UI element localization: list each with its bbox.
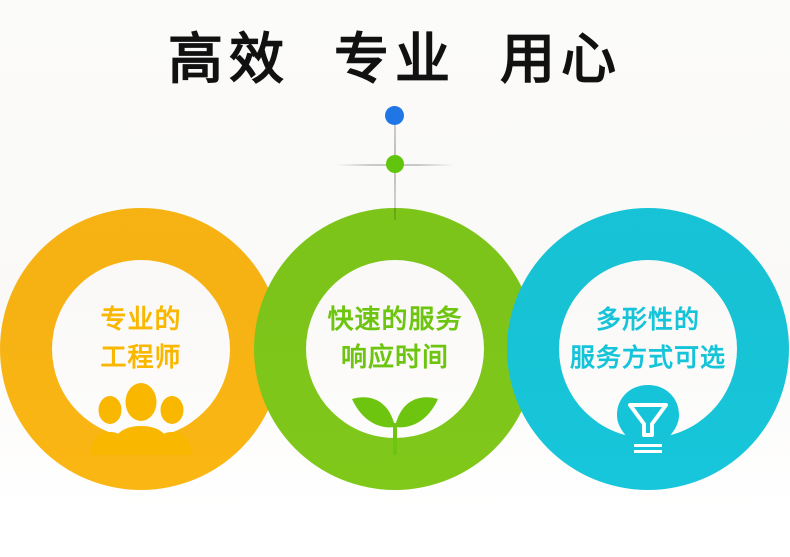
lightbulb-icon (596, 383, 700, 455)
circle-right: 多形性的 服务方式可选 (528, 301, 768, 455)
headline-word-2: 专业 (334, 28, 456, 90)
headline-word-1: 高效 (168, 28, 290, 90)
green-dot-icon (386, 155, 404, 173)
people-group-icon (89, 383, 193, 455)
circle-right-line-2: 服务方式可选 (528, 339, 768, 377)
circle-right-icon-wrap (528, 383, 768, 455)
sprout-icon (343, 383, 447, 455)
page-title: 高效专业用心 (0, 28, 790, 90)
circle-middle-line-1: 快速的服务 (275, 301, 515, 339)
circle-left-icon-wrap (21, 383, 261, 455)
blue-dot-icon (385, 106, 404, 125)
circle-middle: 快速的服务 响应时间 (275, 301, 515, 455)
circle-left-line-1: 专业的 (21, 301, 261, 339)
circle-middle-icon-wrap (275, 383, 515, 455)
circle-left-line-2: 工程师 (21, 339, 261, 377)
circle-left: 专业的 工程师 (21, 301, 261, 455)
circle-left-text: 专业的 工程师 (21, 301, 261, 377)
circle-right-text: 多形性的 服务方式可选 (528, 301, 768, 377)
circle-middle-text: 快速的服务 响应时间 (275, 301, 515, 377)
headline-word-3: 用心 (500, 28, 622, 90)
poster-canvas: 高效专业用心 (0, 0, 790, 557)
circle-right-line-1: 多形性的 (528, 301, 768, 339)
circle-middle-line-2: 响应时间 (275, 339, 515, 377)
